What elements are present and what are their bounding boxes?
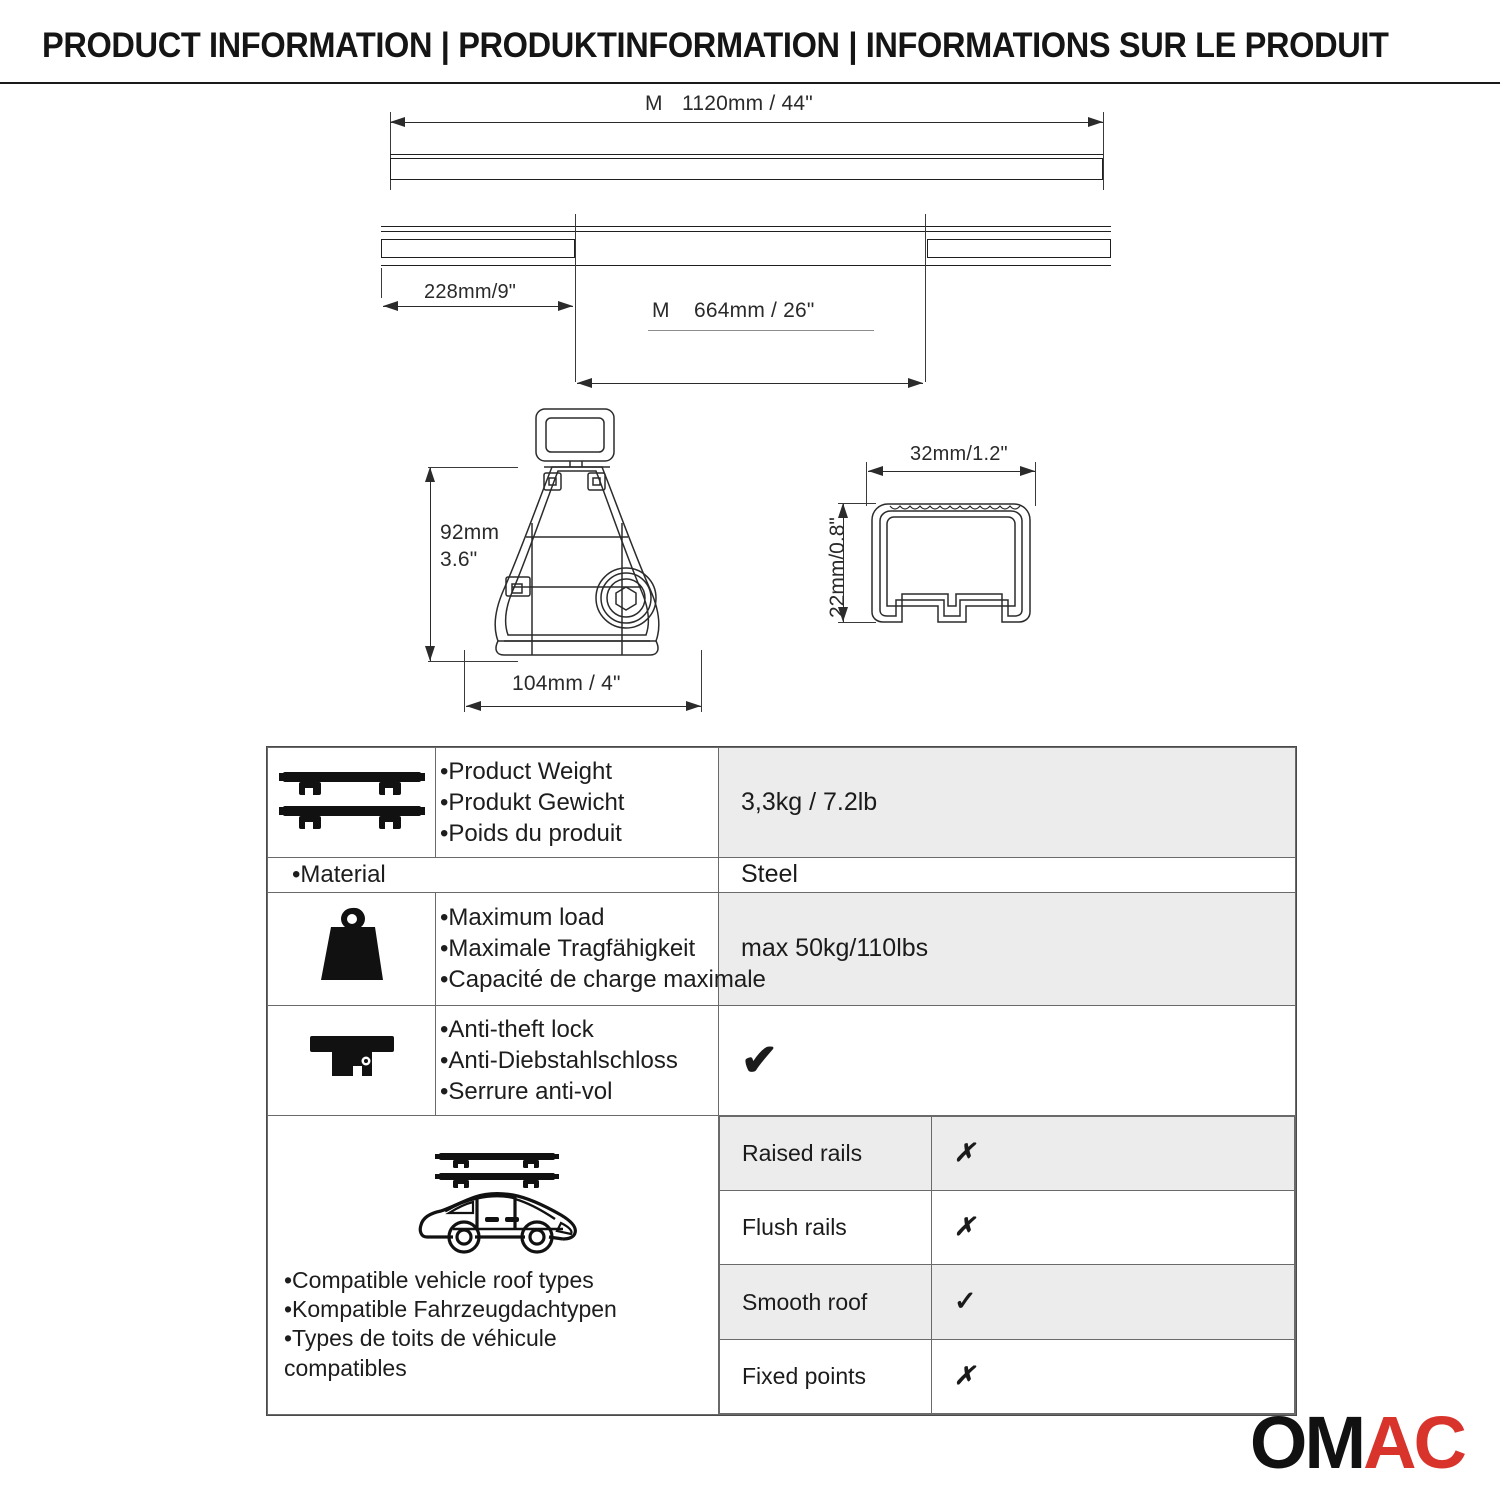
label-material: •Material [268,857,719,892]
foot-right-outline [927,239,1111,258]
ext-line [701,650,702,712]
profile-width-value: 32mm/1.2" [910,443,1008,466]
label-line: •Anti-Diebstahlschloss [440,1045,718,1076]
roof-types-subtable-cell: Raised rails ✗ Flush rails ✗ [719,1115,1296,1414]
label-line: •Capacité de charge maximale [440,964,718,995]
label-line: •Maximale Tragfähigkeit [440,933,718,964]
label-line: •Maximum load [440,902,718,933]
foot-spacing-prefix: M [652,299,670,323]
roof-type-mark: ✗ [932,1116,1295,1190]
profile-cross-section-drawing [862,494,1052,634]
label-line: •Anti-theft lock [440,1014,718,1045]
lock-icon [268,1006,436,1116]
foot-spacing-dimension-line [577,383,923,384]
foot-spacing-underline [648,330,874,331]
label-product-weight: •Product Weight •Produkt Gewicht •Poids … [436,748,719,858]
crossbars-icon [268,748,436,858]
checkmark-icon: ✔ [741,1039,778,1083]
cross-icon: ✗ [954,1362,975,1390]
label-line: •Material [268,861,718,889]
logo-text-om: OM [1250,1414,1363,1472]
label-line: •Compatible vehicle roof types [284,1266,718,1295]
roof-type-name: Smooth roof [720,1265,932,1339]
car-with-roofrack-icon [284,1143,718,1266]
bar2-edge-bottom [381,265,1111,266]
foot-offset-dimension-line [383,306,573,307]
omac-logo: OM AC [1250,1410,1464,1472]
page-title: PRODUCT INFORMATION | PRODUKTINFORMATION… [42,26,1389,66]
label-maximum-load: •Maximum load •Maximale Tragfähigkeit •C… [436,892,719,1006]
foot-height-line2: 3.6" [440,548,477,572]
label-line: •Serrure anti-vol [440,1076,718,1107]
profile-width-dimension-line [868,471,1035,472]
roof-type-name: Fixed points [720,1339,932,1413]
label-line: •Poids du produit [440,818,718,849]
value-material: Steel [719,857,1296,892]
ext-line [381,268,382,298]
foot-width-value: 104mm / 4" [512,672,621,696]
label-compatible-roof-types: •Compatible vehicle roof types •Kompatib… [268,1115,719,1414]
ext-line [925,214,926,382]
label-line: •Product Weight [440,756,718,787]
checkmark-icon: ✓ [954,1286,977,1316]
bar-length-dimension-line [390,122,1103,123]
logo-text-ac: AC [1363,1414,1464,1472]
profile-height-value: 22mm/0.8" [826,517,850,618]
label-line: •Types de toits de véhicule [284,1324,718,1353]
bar-length-prefix: M [645,92,663,116]
spec-table: •Product Weight •Produkt Gewicht •Poids … [266,746,1297,1416]
table-row-anti-theft-lock: •Anti-theft lock •Anti-Diebstahlschloss … [268,1006,1296,1116]
roof-type-mark: ✓ [932,1265,1295,1339]
ext-line [464,650,465,712]
label-anti-theft-lock: •Anti-theft lock •Anti-Diebstahlschloss … [436,1006,719,1116]
bar-profile-edge [390,154,1103,155]
foot-height-line1: 92mm [440,521,499,545]
bar-profile-body [390,158,1103,180]
table-row-material: •Material Steel [268,857,1296,892]
roof-type-row-fixed-points: Fixed points ✗ [720,1339,1295,1413]
table-row-product-weight: •Product Weight •Produkt Gewicht •Poids … [268,748,1296,858]
roof-type-row-raised-rails: Raised rails ✗ [720,1116,1295,1190]
bar2-edge-top [381,226,1111,227]
foot-spacing-value: 664mm / 26" [694,299,815,323]
bar2-edge-top2 [381,231,1111,232]
weight-icon [268,892,436,1006]
label-line: •Kompatible Fahrzeugdachtypen [284,1295,718,1324]
foot-offset-value: 228mm/9" [424,281,516,304]
product-information-sheet: PRODUCT INFORMATION | PRODUKTINFORMATION… [0,0,1500,1500]
foot-width-dimension-line [466,706,701,707]
table-row-maximum-load: •Maximum load •Maximale Tragfähigkeit •C… [268,892,1296,1006]
foot-left-outline [381,239,575,258]
header-divider [0,82,1500,84]
roof-type-mark: ✗ [932,1339,1295,1413]
ext-line [428,467,518,468]
ext-line [1103,112,1104,190]
value-product-weight: 3,3kg / 7.2lb [719,748,1296,858]
roof-type-row-smooth-roof: Smooth roof ✓ [720,1265,1295,1339]
roof-type-name: Raised rails [720,1116,932,1190]
roof-types-subtable: Raised rails ✗ Flush rails ✗ [719,1116,1295,1414]
roof-type-name: Flush rails [720,1191,932,1265]
label-line: •Produkt Gewicht [440,787,718,818]
cross-icon: ✗ [954,1139,975,1167]
roof-type-mark: ✗ [932,1191,1295,1265]
foot-height-dimension-line [430,467,431,661]
roof-type-row-flush-rails: Flush rails ✗ [720,1191,1295,1265]
value-anti-theft-lock: ✔ [719,1006,1296,1116]
cross-icon: ✗ [954,1213,975,1241]
label-line: compatibles [284,1354,718,1383]
table-row-compatible-roof-types: •Compatible vehicle roof types •Kompatib… [268,1115,1296,1414]
value-maximum-load: max 50kg/110lbs [719,892,1296,1006]
ext-line [575,214,576,382]
bar-length-value: 1120mm / 44" [682,92,813,116]
ext-line [428,661,518,662]
profile-height-dimension-line [843,503,844,622]
